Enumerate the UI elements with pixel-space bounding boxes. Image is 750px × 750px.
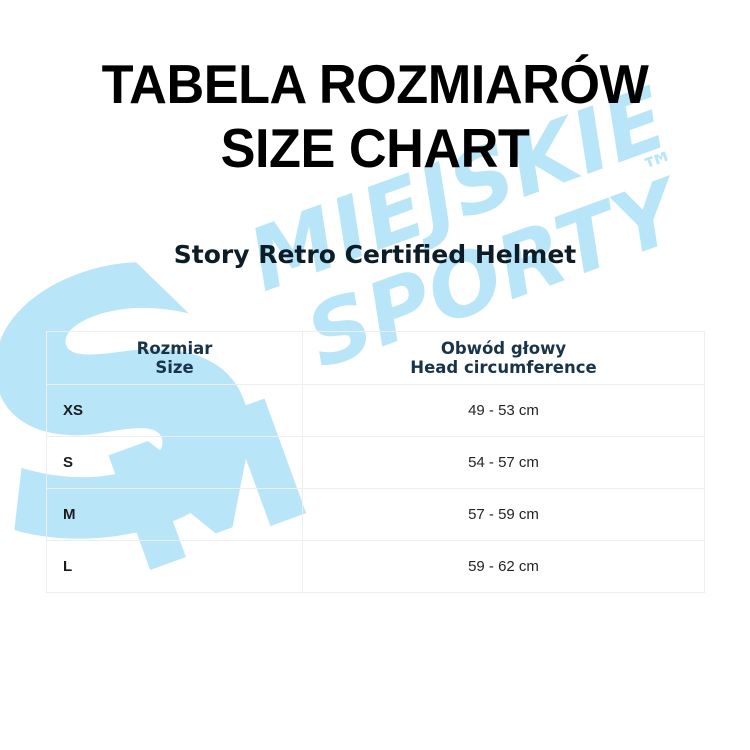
table-row: L 59 - 62 cm bbox=[47, 541, 705, 593]
table-row: XS 49 - 53 cm bbox=[47, 385, 705, 437]
table-body: XS 49 - 53 cm S 54 - 57 cm M 57 - 59 cm … bbox=[47, 385, 705, 593]
table-header: Rozmiar Size Obwód głowy Head circumfere… bbox=[47, 332, 705, 385]
content-layer: TABELA ROZMIARÓW SIZE CHART Story Retro … bbox=[0, 0, 750, 750]
cell-size: M bbox=[47, 489, 303, 541]
column-header-circumference: Obwód głowy Head circumference bbox=[303, 332, 705, 385]
column-header-circumference-english: Head circumference bbox=[309, 358, 698, 377]
cell-circumference: 49 - 53 cm bbox=[303, 385, 705, 437]
product-name-subtitle: Story Retro Certified Helmet bbox=[0, 239, 750, 271]
column-header-size: Rozmiar Size bbox=[47, 332, 303, 385]
table-row: S 54 - 57 cm bbox=[47, 437, 705, 489]
cell-size: L bbox=[47, 541, 303, 593]
cell-circumference: 57 - 59 cm bbox=[303, 489, 705, 541]
cell-size: XS bbox=[47, 385, 303, 437]
column-header-size-polish: Rozmiar bbox=[53, 339, 296, 358]
cell-circumference: 54 - 57 cm bbox=[303, 437, 705, 489]
size-chart-table: Rozmiar Size Obwód głowy Head circumfere… bbox=[46, 331, 705, 593]
column-header-size-english: Size bbox=[53, 358, 296, 377]
cell-circumference: 59 - 62 cm bbox=[303, 541, 705, 593]
table-header-row: Rozmiar Size Obwód głowy Head circumfere… bbox=[47, 332, 705, 385]
cell-size: S bbox=[47, 437, 303, 489]
page-title-line-polish: TABELA ROZMIARÓW bbox=[19, 52, 732, 116]
page-title-line-english: SIZE CHART bbox=[19, 116, 732, 180]
size-chart-page: MIEJSKIE SPORTY ™ TABELA ROZMIARÓW SIZE … bbox=[0, 0, 750, 750]
column-header-circumference-polish: Obwód głowy bbox=[309, 339, 698, 358]
table-row: M 57 - 59 cm bbox=[47, 489, 705, 541]
page-title: TABELA ROZMIARÓW SIZE CHART bbox=[0, 52, 750, 180]
